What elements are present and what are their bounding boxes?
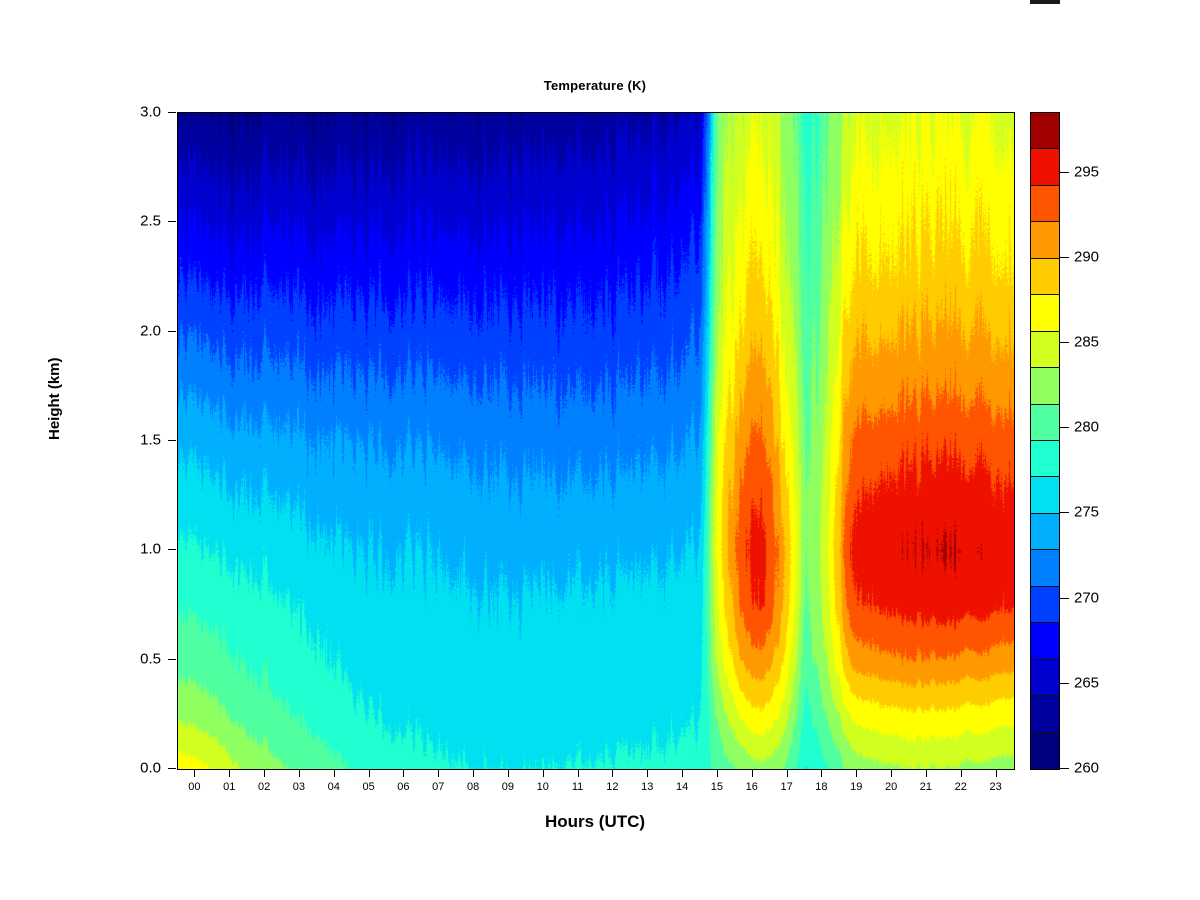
y-tick-mark <box>168 549 176 550</box>
x-tick-label: 18 <box>815 781 827 793</box>
colorbar-band <box>1031 259 1059 295</box>
x-tick-mark <box>264 769 265 777</box>
x-tick-label: 02 <box>258 781 270 793</box>
x-tick-mark <box>438 769 439 777</box>
y-tick-mark <box>168 221 176 222</box>
x-tick-mark <box>717 769 718 777</box>
x-tick-label: 12 <box>606 781 618 793</box>
colorbar-tick-label: 275 <box>1074 504 1099 521</box>
colorbar-band <box>1031 696 1059 732</box>
x-tick-mark <box>334 769 335 777</box>
heatmap-plot-area <box>177 112 1015 770</box>
colorbar-tick-mark <box>1060 342 1069 343</box>
x-tick-label: 10 <box>537 781 549 793</box>
colorbar-band <box>1031 113 1059 149</box>
y-tick-label: 1.5 <box>101 432 161 449</box>
x-tick-label: 09 <box>502 781 514 793</box>
x-tick-label: 16 <box>746 781 758 793</box>
colorbar-band <box>1031 550 1059 586</box>
colorbar-tick-mark <box>1060 172 1069 173</box>
x-tick-label: 15 <box>711 781 723 793</box>
colorbar-band <box>1031 441 1059 477</box>
colorbar-tick-label: 270 <box>1074 589 1099 606</box>
x-tick-label: 05 <box>362 781 374 793</box>
colorbar-band <box>1031 587 1059 623</box>
colorbar-band <box>1031 295 1059 331</box>
x-tick-mark <box>821 769 822 777</box>
x-tick-mark <box>682 769 683 777</box>
y-tick-mark <box>168 112 176 113</box>
top-edge-artifact <box>1030 0 1060 4</box>
x-tick-mark <box>194 769 195 777</box>
y-tick-label: 0.0 <box>101 760 161 777</box>
x-tick-mark <box>508 769 509 777</box>
x-tick-mark <box>403 769 404 777</box>
y-tick-mark <box>168 659 176 660</box>
y-tick-mark <box>168 331 176 332</box>
x-tick-mark <box>891 769 892 777</box>
colorbar-band <box>1031 405 1059 441</box>
x-tick-mark <box>543 769 544 777</box>
colorbar-tick-label: 280 <box>1074 419 1099 436</box>
figure-canvas: Temperature (K) 0.00.51.01.52.02.53.0 00… <box>0 0 1200 900</box>
colorbar-band <box>1031 733 1059 769</box>
colorbar-tick-label: 290 <box>1074 248 1099 265</box>
colorbar-band <box>1031 186 1059 222</box>
colorbar-band <box>1031 222 1059 258</box>
x-tick-mark <box>787 769 788 777</box>
colorbar-tick-mark <box>1060 683 1069 684</box>
colorbar-tick-mark <box>1060 598 1069 599</box>
colorbar-band <box>1031 332 1059 368</box>
colorbar-band <box>1031 149 1059 185</box>
colorbar-tick-label: 265 <box>1074 674 1099 691</box>
x-tick-label: 07 <box>432 781 444 793</box>
y-tick-mark <box>168 768 176 769</box>
y-tick-label: 1.0 <box>101 541 161 558</box>
x-tick-mark <box>926 769 927 777</box>
plot-title: Temperature (K) <box>177 78 1013 93</box>
colorbar-tick-label: 295 <box>1074 163 1099 180</box>
x-tick-label: 04 <box>328 781 340 793</box>
x-tick-mark <box>752 769 753 777</box>
x-axis-title: Hours (UTC) <box>177 812 1013 832</box>
y-axis-title: Height (km) <box>46 358 63 441</box>
x-tick-label: 19 <box>850 781 862 793</box>
colorbar-tick-mark <box>1060 512 1069 513</box>
x-tick-label: 23 <box>989 781 1001 793</box>
colorbar-tick-label: 260 <box>1074 760 1099 777</box>
colorbar-tick-label: 285 <box>1074 334 1099 351</box>
x-tick-label: 20 <box>885 781 897 793</box>
x-tick-label: 08 <box>467 781 479 793</box>
x-tick-label: 17 <box>780 781 792 793</box>
colorbar-tick-mark <box>1060 768 1069 769</box>
colorbar <box>1030 112 1060 770</box>
colorbar-band <box>1031 477 1059 513</box>
x-tick-mark <box>229 769 230 777</box>
x-tick-mark <box>612 769 613 777</box>
y-tick-label: 2.5 <box>101 213 161 230</box>
colorbar-band <box>1031 368 1059 404</box>
colorbar-band <box>1031 660 1059 696</box>
x-tick-mark <box>473 769 474 777</box>
x-tick-label: 00 <box>188 781 200 793</box>
y-tick-label: 3.0 <box>101 104 161 121</box>
x-tick-label: 03 <box>293 781 305 793</box>
y-tick-label: 2.0 <box>101 322 161 339</box>
x-tick-mark <box>578 769 579 777</box>
colorbar-band <box>1031 514 1059 550</box>
x-tick-mark <box>647 769 648 777</box>
x-tick-mark <box>369 769 370 777</box>
colorbar-tick-mark <box>1060 257 1069 258</box>
x-tick-label: 14 <box>676 781 688 793</box>
x-tick-mark <box>299 769 300 777</box>
x-tick-label: 01 <box>223 781 235 793</box>
x-tick-label: 13 <box>641 781 653 793</box>
x-tick-label: 21 <box>920 781 932 793</box>
colorbar-tick-mark <box>1060 427 1069 428</box>
x-tick-label: 11 <box>572 781 583 793</box>
x-tick-mark <box>856 769 857 777</box>
y-tick-label: 0.5 <box>101 650 161 667</box>
x-tick-mark <box>961 769 962 777</box>
x-tick-label: 22 <box>955 781 967 793</box>
colorbar-band <box>1031 623 1059 659</box>
x-tick-mark <box>996 769 997 777</box>
heatmap-canvas <box>178 113 1014 769</box>
x-tick-label: 06 <box>397 781 409 793</box>
y-tick-mark <box>168 440 176 441</box>
